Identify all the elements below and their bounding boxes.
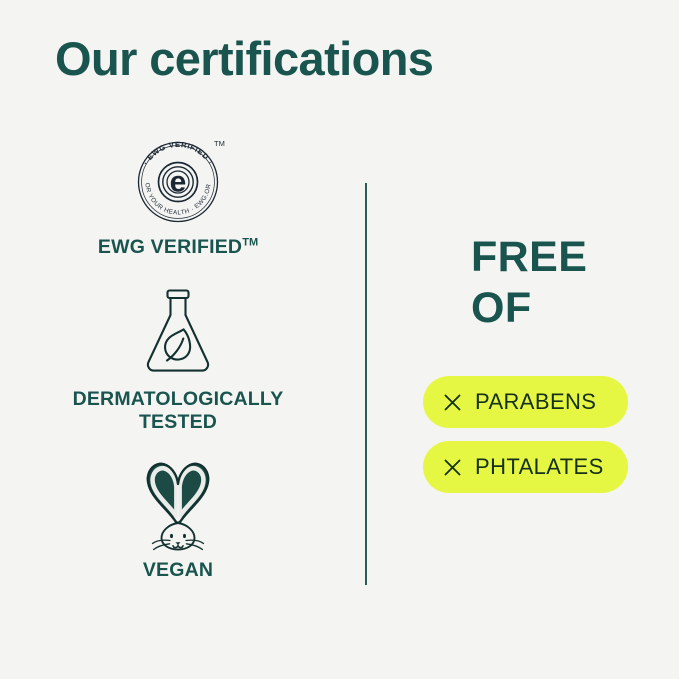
ewg-seal-icon-wrap: · EWG VERIFIED · · FOR YOUR HEALTH · EWG…	[38, 132, 318, 228]
bunny-eye-left	[170, 534, 173, 538]
page-title: Our certifications	[55, 32, 433, 86]
certification-label-ewg-verified: EWG VERIFIEDTM	[38, 236, 318, 258]
free-of-heading-line-1: FREE	[471, 232, 587, 283]
free-of-heading-line-2: OF	[471, 283, 587, 334]
certification-label-line-1: DERMATOLOGICALLY	[73, 388, 284, 410]
bunny-icon-wrap	[38, 455, 318, 551]
x-mark-icon	[443, 393, 462, 412]
svg-text:e: e	[170, 166, 187, 199]
free-of-pill-label: PARABENS	[475, 391, 596, 413]
flask-with-leaf-icon	[138, 284, 218, 380]
bunny-with-heart-ears-icon	[128, 453, 228, 553]
free-of-heading: FREE OF	[471, 232, 587, 333]
certification-label-vegan: VEGAN	[38, 559, 318, 581]
svg-text:TM: TM	[214, 139, 225, 148]
free-of-pill-label: PHTALATES	[475, 456, 604, 478]
certification-item-dermatologically-tested: DERMATOLOGICALLY TESTED	[38, 284, 318, 433]
certification-item-vegan: VEGAN	[38, 455, 318, 581]
column-divider	[365, 183, 367, 585]
free-of-pill-list: PARABENS PHTALATES	[423, 376, 628, 493]
certifications-infographic: Our certifications · EWG VERIFIED ·	[0, 0, 679, 679]
certification-label-text: EWG VERIFIED	[98, 236, 242, 258]
free-of-pill-phtalates: PHTALATES	[423, 441, 628, 493]
ewg-verified-seal-icon: · EWG VERIFIED · · FOR YOUR HEALTH · EWG…	[128, 132, 228, 228]
x-mark-icon	[443, 458, 462, 477]
trademark-symbol: TM	[242, 237, 258, 249]
certification-item-ewg-verified: · EWG VERIFIED · · FOR YOUR HEALTH · EWG…	[38, 132, 318, 258]
certification-label-dermatologically-tested: DERMATOLOGICALLY TESTED	[38, 388, 318, 433]
certification-label-line-2: TESTED	[139, 411, 217, 433]
free-of-pill-parabens: PARABENS	[423, 376, 628, 428]
flask-icon-wrap	[38, 284, 318, 380]
bunny-eye-right	[183, 534, 186, 538]
certification-list: · EWG VERIFIED · · FOR YOUR HEALTH · EWG…	[38, 132, 318, 582]
